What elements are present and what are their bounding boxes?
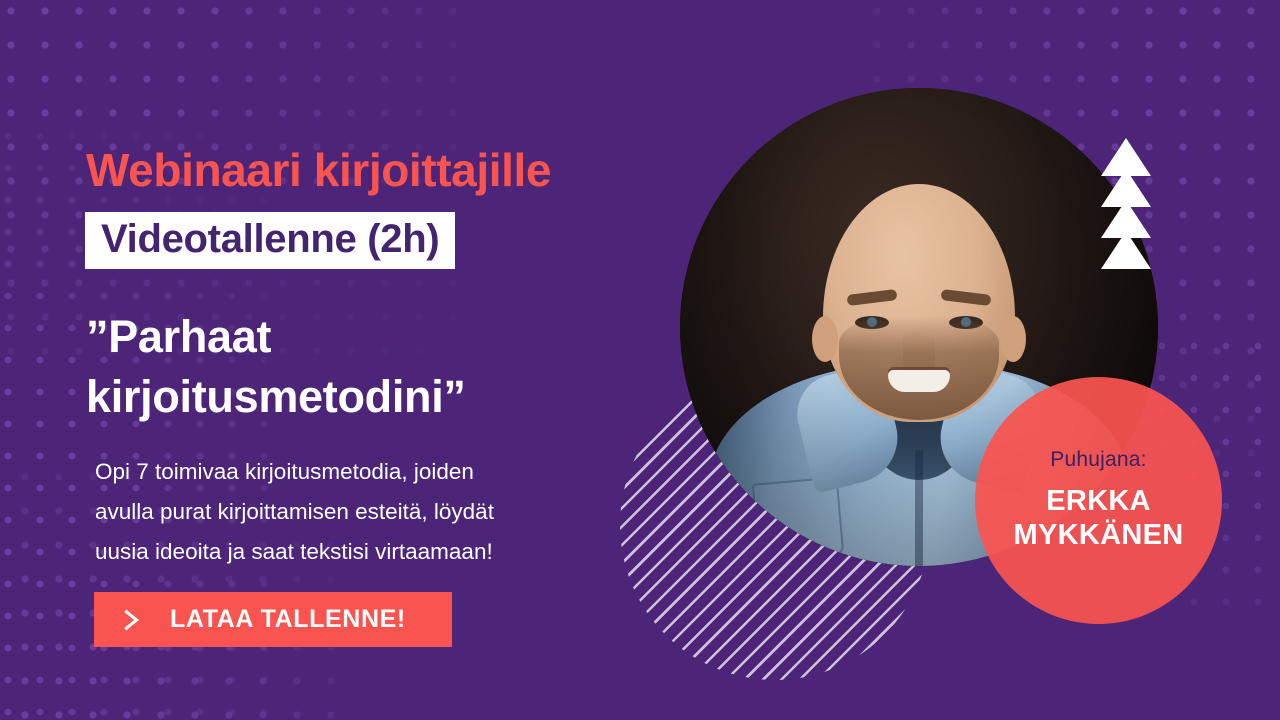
speaker-badge-label: Puhujana:	[1050, 448, 1146, 472]
body-line-2: avulla purat kirjoittamisen esteitä, löy…	[95, 492, 605, 532]
speaker-name: ERKKA MYKKÄNEN	[1014, 485, 1184, 552]
headline-eyebrow: Webinaari kirjoittajille	[86, 143, 551, 197]
quote-line-1: ”Parhaat	[86, 307, 606, 367]
speaker-badge: Puhujana: ERKKA MYKKÄNEN	[975, 377, 1222, 624]
speaker-first-name: ERKKA	[1014, 485, 1184, 519]
body-line-1: Opi 7 toimivaa kirjoitusmetodia, joiden	[95, 452, 605, 492]
quote-line-2: kirjoitusmetodini”	[86, 367, 606, 427]
download-recording-button-label: LATAA TALLENNE!	[170, 605, 406, 634]
highlight-box: Videotallenne (2h)	[85, 212, 455, 269]
page-title: ”Parhaat kirjoitusmetodini”	[86, 307, 606, 427]
download-recording-button[interactable]: LATAA TALLENNE!	[94, 592, 452, 647]
body-description: Opi 7 toimivaa kirjoitusmetodia, joiden …	[95, 452, 605, 572]
webinar-promo-banner: Webinaari kirjoittajille Videotallenne (…	[0, 0, 1280, 720]
highlight-box-label: Videotallenne (2h)	[101, 218, 439, 260]
speaker-last-name: MYKKÄNEN	[1014, 519, 1184, 553]
triangle-up-icon	[1101, 231, 1151, 269]
body-line-3: uusia ideoita ja saat tekstisi virtaamaa…	[95, 532, 605, 572]
triangle-stack-decoration	[1101, 138, 1155, 262]
chevron-right-icon	[120, 609, 142, 631]
